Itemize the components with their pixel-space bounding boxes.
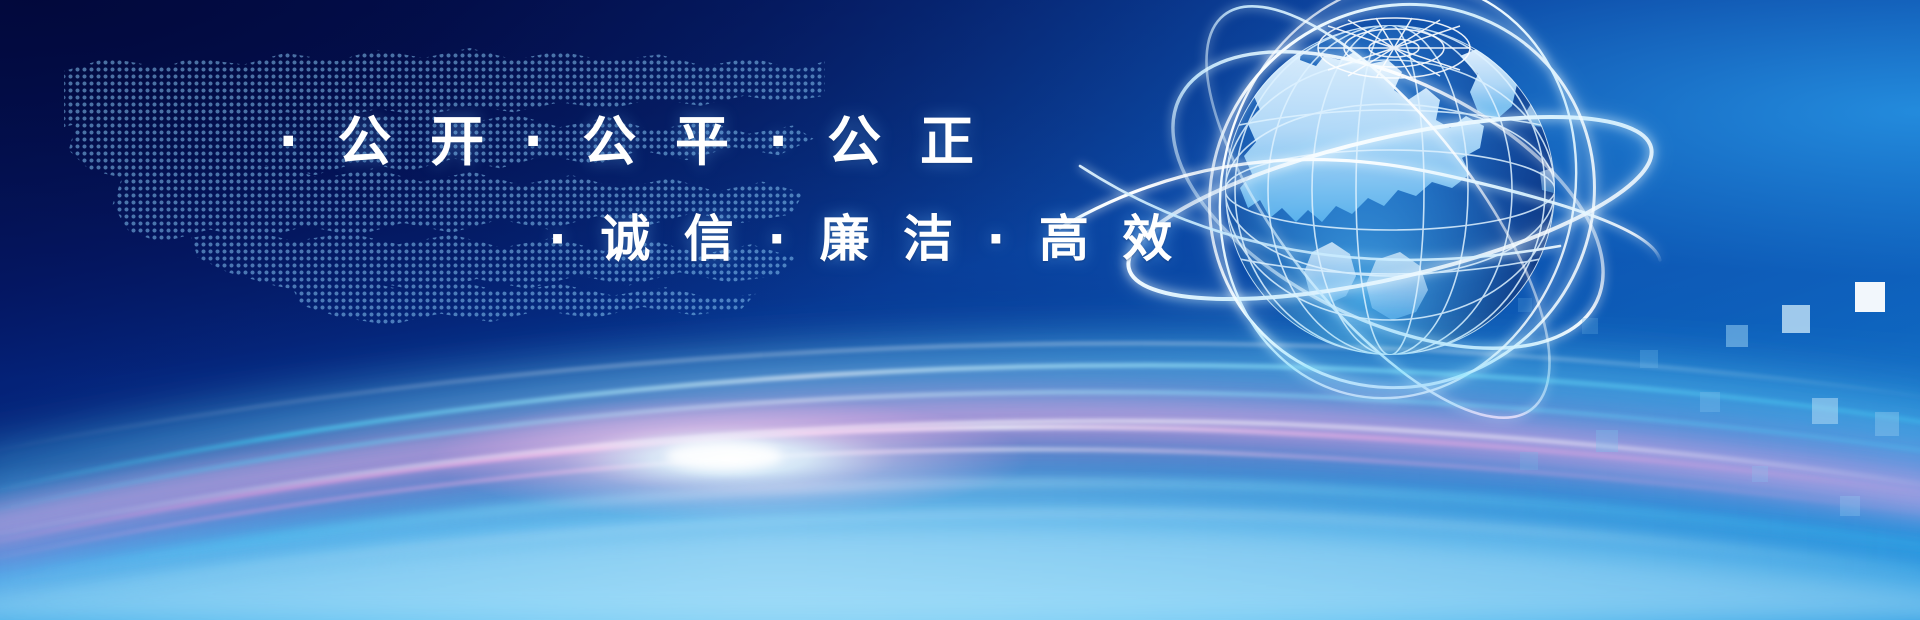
pixel-squares-icon bbox=[0, 0, 1920, 620]
pixel-square bbox=[1875, 412, 1899, 436]
pixel-square bbox=[1640, 350, 1658, 368]
pixel-square bbox=[1840, 496, 1860, 516]
pixel-square bbox=[1812, 398, 1838, 424]
pixel-square bbox=[1752, 466, 1768, 482]
pixel-square bbox=[1782, 305, 1810, 333]
pixel-square bbox=[1596, 430, 1618, 452]
pixel-square bbox=[1518, 298, 1532, 312]
pixel-square bbox=[1520, 452, 1538, 470]
pixel-square bbox=[1582, 318, 1598, 334]
pixel-square bbox=[1700, 392, 1720, 412]
pixel-square bbox=[1726, 325, 1748, 347]
promotional-banner: · 公 开 · 公 平 · 公 正 · 诚 信 · 廉 洁 · 高 效 bbox=[0, 0, 1920, 620]
pixel-square bbox=[1855, 282, 1885, 312]
